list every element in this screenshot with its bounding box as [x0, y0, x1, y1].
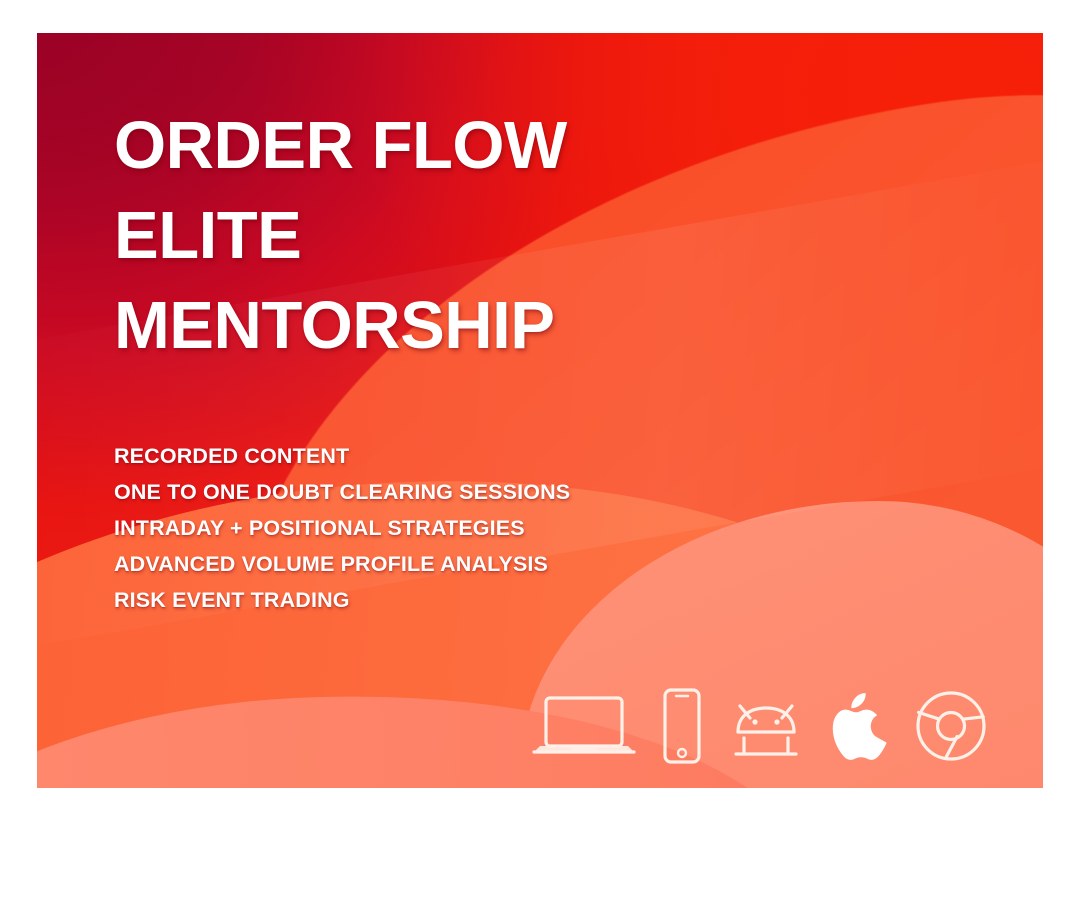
headline-block: ORDER FLOW ELITE MENTORSHIP	[114, 101, 567, 371]
feature-item-doubt-clearing-sessions: ONE TO ONE DOUBT CLEARING SESSIONS	[114, 474, 570, 510]
page-root: ORDER FLOW ELITE MENTORSHIP RECORDED CON…	[0, 0, 1080, 900]
feature-item-recorded-content: RECORDED CONTENT	[114, 438, 570, 474]
laptop-icon	[532, 676, 636, 776]
headline-line-2: ELITE	[114, 191, 567, 281]
feature-item-volume-profile-analysis: ADVANCED VOLUME PROFILE ANALYSIS	[114, 546, 570, 582]
headline-line-3: MENTORSHIP	[114, 281, 567, 371]
promo-banner: ORDER FLOW ELITE MENTORSHIP RECORDED CON…	[37, 33, 1043, 788]
smartphone-icon	[662, 676, 702, 776]
apple-icon	[830, 676, 888, 776]
feature-item-intraday-positional-strategies: INTRADAY + POSITIONAL STRATEGIES	[114, 510, 570, 546]
chrome-icon	[914, 676, 988, 776]
headline-line-1: ORDER FLOW	[114, 101, 567, 191]
platform-icon-strip	[532, 670, 982, 782]
android-icon	[728, 676, 804, 776]
feature-item-risk-event-trading: RISK EVENT TRADING	[114, 582, 570, 618]
feature-list: RECORDED CONTENT ONE TO ONE DOUBT CLEARI…	[114, 438, 570, 618]
